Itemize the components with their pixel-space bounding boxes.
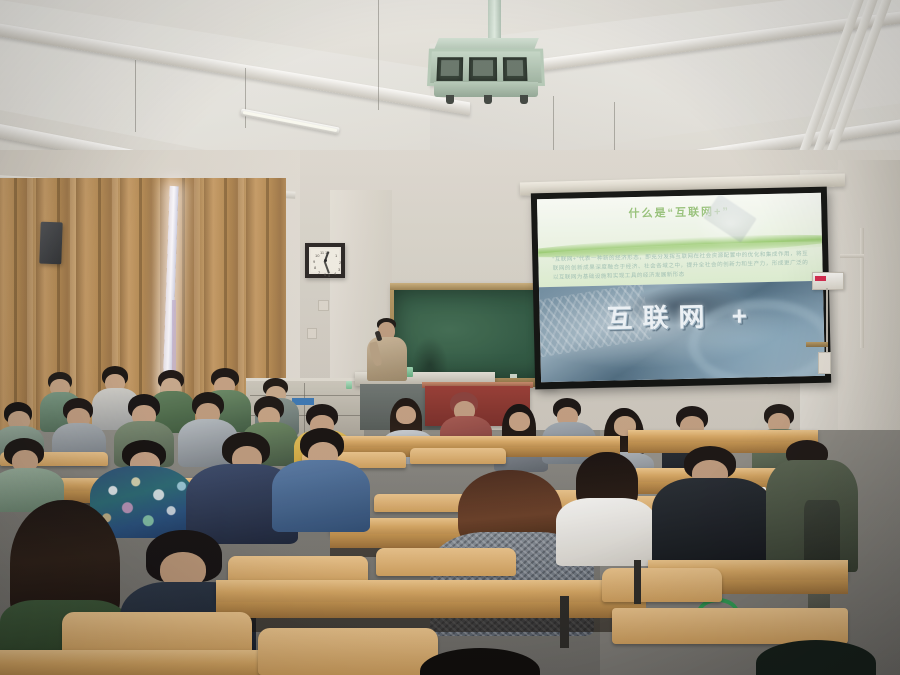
- bench-leg: [634, 560, 641, 604]
- presentation-slide: 什么是“互联网+” “互联网+”代表一种新的经济形态，即充分发挥互联网在社会资源…: [537, 193, 825, 382]
- chalk-piece[interactable]: [510, 374, 517, 378]
- clock-numeral: 9: [313, 259, 315, 264]
- bench-back-foreground: [258, 628, 438, 675]
- student-front-black: [660, 446, 764, 566]
- clock-numeral: 1: [335, 253, 337, 258]
- ceiling-projector: [428, 38, 544, 100]
- clock-numeral: 4: [334, 271, 336, 276]
- lecturer: [365, 318, 409, 380]
- green-cup[interactable]: [346, 381, 352, 389]
- blackboard-surface: [394, 290, 552, 378]
- clock-numeral: 7: [318, 270, 320, 275]
- bench-back-foreground: [376, 548, 516, 576]
- wall-hook-rail: [806, 342, 828, 347]
- clock-numeral: 8: [314, 265, 316, 270]
- blackboard-top-trim: [390, 283, 556, 290]
- student-front-left-1: [0, 438, 62, 508]
- bench-back-foreground: [602, 568, 722, 602]
- wall-outlet[interactable]: [318, 300, 329, 311]
- light-wire: [553, 96, 554, 156]
- wall-switch-plate[interactable]: [818, 352, 831, 374]
- clock-center-dot: [324, 259, 327, 262]
- desk-row-foreground: [216, 580, 646, 602]
- light-wire: [378, 0, 379, 110]
- white-jacket: [556, 498, 656, 566]
- black-turtleneck: [652, 478, 774, 570]
- slide-body-text: “互联网+”代表一种新的经济形态，即充分发挥互联网在社会资源配置中的优化和集成作…: [552, 250, 808, 283]
- clock-numeral: 6: [324, 272, 326, 277]
- bench-back-foreground: [62, 612, 252, 654]
- desk-row: [330, 436, 620, 447]
- wall-control-box[interactable]: [812, 272, 844, 290]
- bench-back: [410, 448, 506, 464]
- light-wire: [135, 60, 136, 132]
- bench-leg: [560, 596, 569, 648]
- clock-numeral: 11: [320, 250, 324, 255]
- projector-mount-pole: [488, 0, 501, 40]
- wall-conduit-horizontal: [840, 254, 864, 258]
- wall-clock: 12 1 2 3 4 5 6 7 8 9 10 11: [305, 243, 345, 278]
- light-wire: [245, 68, 246, 128]
- clock-numeral: 5: [328, 273, 330, 278]
- control-indicator-light: [815, 276, 826, 281]
- clock-numeral: 10: [315, 253, 319, 258]
- student-foreground-head: [756, 640, 876, 675]
- student-front-blue: [278, 428, 364, 526]
- clock-numeral: 2: [339, 260, 341, 265]
- bench-seat-foreground: [612, 608, 848, 644]
- student-front-white: [560, 452, 650, 562]
- classroom-photo: 12 1 2 3 4 5 6 7 8 9 10 11: [0, 0, 900, 675]
- wall-speaker: [39, 222, 62, 265]
- projection-screen[interactable]: 什么是“互联网+” “互联网+”代表一种新的经济形态，即充分发挥互联网在社会资源…: [531, 187, 831, 390]
- desk-row-front: [216, 602, 646, 618]
- student-foreground-head: [420, 648, 540, 675]
- wall-outlet[interactable]: [307, 328, 317, 339]
- clock-numeral: 3: [338, 267, 340, 272]
- wall-conduit: [860, 228, 864, 348]
- slide-headline: 互联网 +: [539, 293, 824, 336]
